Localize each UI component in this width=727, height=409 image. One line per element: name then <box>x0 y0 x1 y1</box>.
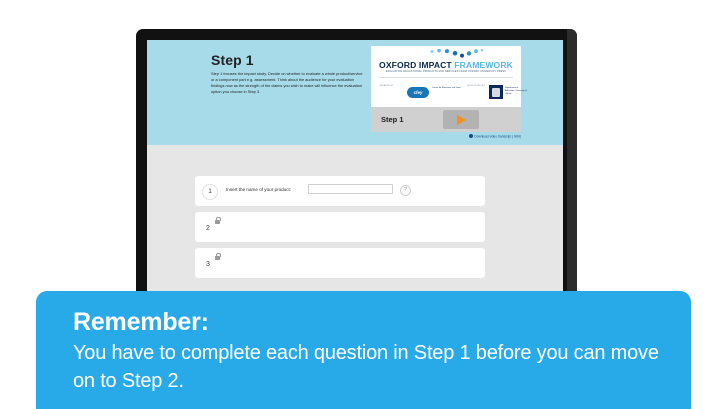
help-icon[interactable]: ? <box>400 185 411 196</box>
oxford-crest-icon <box>489 85 503 99</box>
logo-wordmark-dark: OXFORD IMPACT <box>379 60 452 70</box>
questions-list: 1 Insert the name of your product: ? 2 3 <box>147 145 563 295</box>
crest-shape <box>492 88 500 97</box>
page-title: Step 1 <box>211 52 254 68</box>
lock-body-shape <box>215 256 220 260</box>
lock-icon <box>215 253 220 260</box>
cfey-logo: cfey <box>407 87 429 98</box>
slide-canvas: Step 1 Step 1 focuses the impact study. … <box>0 0 727 409</box>
product-name-input[interactable] <box>308 184 393 194</box>
remember-banner: Remember: You have to complete each ques… <box>36 291 691 409</box>
video-title: Step 1 <box>381 115 404 124</box>
video-player-bar[interactable]: Step 1 <box>371 107 521 132</box>
department-of-education-name: Department of Education, University of O… <box>505 87 527 96</box>
cfey-logo-name: Centre for Education and Youth <box>432 87 462 90</box>
logo-wordmark-light: FRAMEWORK <box>454 60 513 70</box>
question-number-3: 3 <box>206 261 210 268</box>
laptop-bezel-edge <box>567 29 577 295</box>
logo-divider <box>379 77 513 78</box>
question-number-1: 1 <box>202 184 218 200</box>
logo-tagline: EVALUATING EDUCATIONAL PRODUCTS AND SERV… <box>371 71 521 73</box>
question-row-1[interactable]: 1 Insert the name of your product: ? <box>195 176 485 206</box>
created-by-label: CREATED BY <box>379 85 405 87</box>
oxford-impact-framework-logo: OXFORD IMPACT FRAMEWORK EVALUATING EDUCA… <box>371 46 521 107</box>
step-description: Step 1 focuses the impact study. Decide … <box>211 71 366 95</box>
question-number-2: 2 <box>206 225 210 232</box>
question-row-3[interactable]: 3 <box>195 248 485 278</box>
lock-body-shape <box>215 220 220 224</box>
laptop-screen: Step 1 Step 1 focuses the impact study. … <box>147 40 563 295</box>
lock-icon <box>215 217 220 224</box>
logo-wordmark: OXFORD IMPACT FRAMEWORK <box>371 60 521 70</box>
page-header-band: Step 1 Step 1 focuses the impact study. … <box>147 40 563 145</box>
play-button[interactable] <box>443 110 479 129</box>
logo-dots-graphic <box>426 49 486 60</box>
download-transcript-link[interactable]: Download video transcript (.html) <box>371 134 521 139</box>
supported-by-label: SUPPORTED BY <box>467 85 491 87</box>
laptop-mockup: Step 1 Step 1 focuses the impact study. … <box>136 29 577 295</box>
question-row-2[interactable]: 2 <box>195 212 485 242</box>
download-icon <box>469 134 473 138</box>
play-icon <box>457 115 466 125</box>
download-transcript-label: Download video transcript (.html) <box>474 135 521 139</box>
question-label-1: Insert the name of your product: <box>226 187 291 192</box>
banner-body-text: You have to complete each question in St… <box>73 339 673 395</box>
banner-title: Remember: <box>73 308 209 337</box>
partner-logos-strip: CREATED BY cfey Centre for Education and… <box>379 81 513 103</box>
